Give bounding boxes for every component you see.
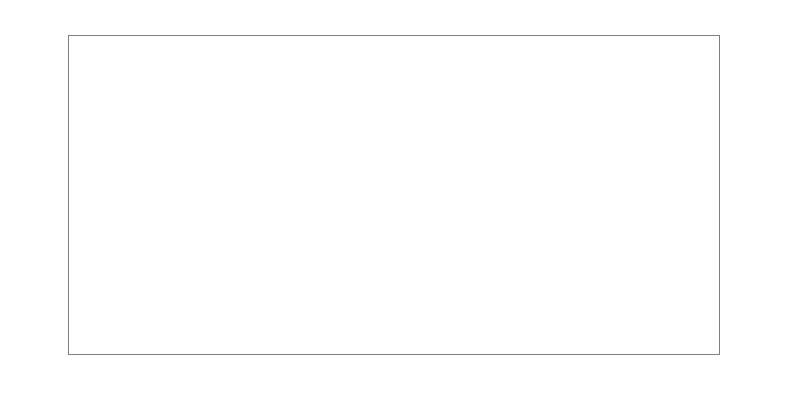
- ground-track-map-figure: [0, 0, 800, 400]
- map-canvas: [69, 36, 719, 354]
- map-plot-area: [68, 35, 720, 355]
- map-svg: [69, 36, 718, 353]
